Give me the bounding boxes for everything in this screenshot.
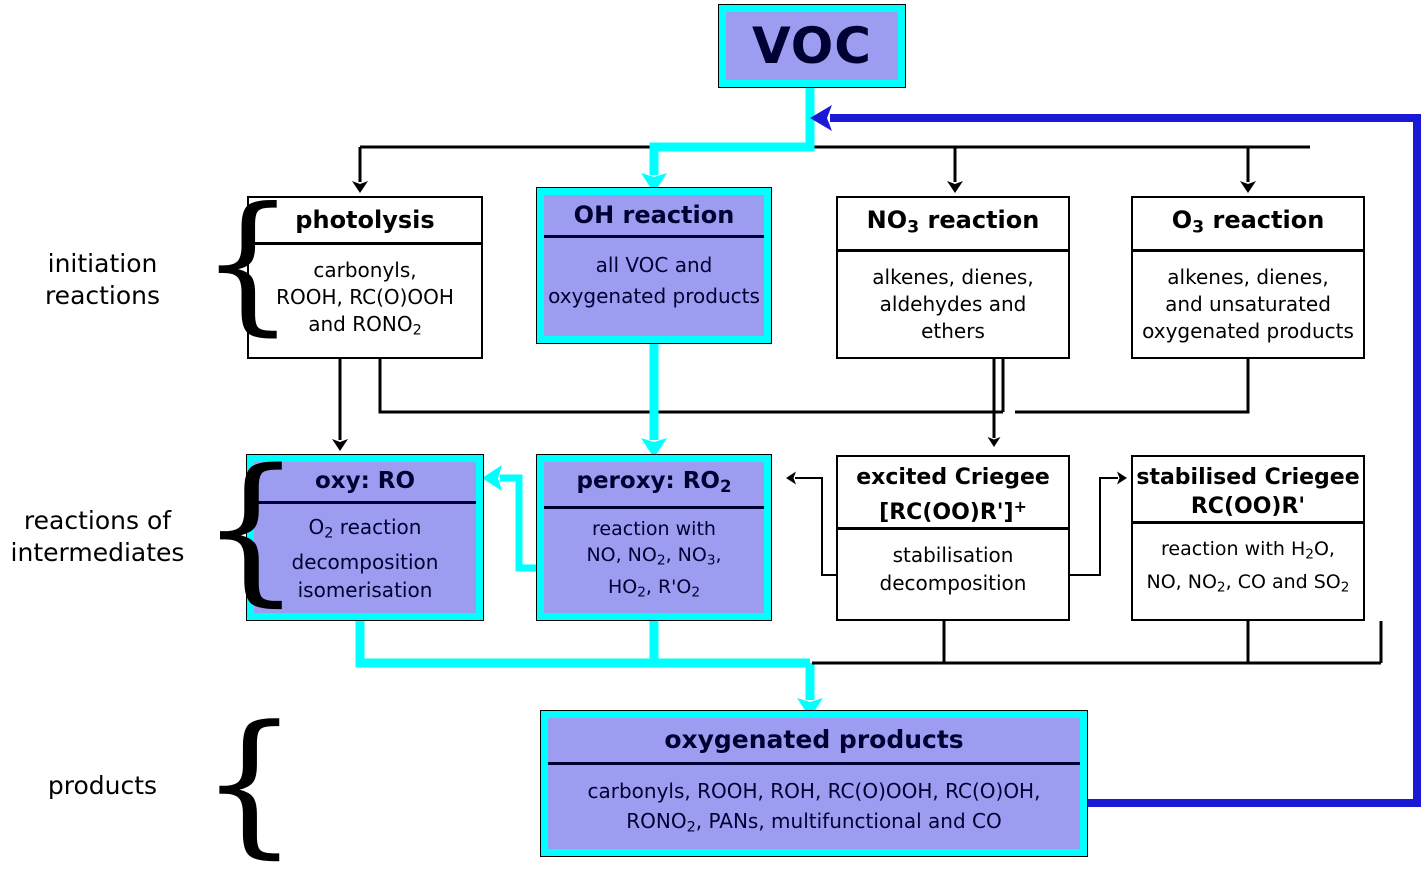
row-label-initiation: initiation reactions (10, 248, 195, 312)
oh-reaction-body-line-2: oxygenated products (544, 281, 764, 312)
stabilised-criegee-title-line-1: stabilised Criegee (1133, 463, 1363, 492)
o3-reaction-title: O3 reaction (1133, 198, 1363, 252)
diagram-canvas: VOC photolysis carbonyls, ROOH, RC(O)OOH… (0, 0, 1425, 888)
o3-reaction-body-line-3: oxygenated products (1133, 318, 1363, 345)
edge-voc-to-oh-reaction (654, 87, 810, 175)
stabilised-criegee-title: stabilised Criegee RC(OO)R' (1133, 457, 1363, 524)
node-oh-reaction[interactable]: OH reaction all VOC and oxygenated produ… (537, 188, 771, 343)
excited-criegee-title-line-2: [RC(OO)R']+ (838, 492, 1068, 527)
row-label-initiation-line-1: initiation (10, 248, 195, 280)
oxygenated-products-body-line-2: RONO2, PANs, multifunctional and CO (548, 806, 1080, 843)
node-o3-reaction[interactable]: O3 reaction alkenes, dienes, and unsatur… (1131, 196, 1365, 359)
no3-reaction-title: NO3 reaction (838, 198, 1068, 252)
oxygenated-products-body-line-1: carbonyls, ROOH, ROH, RC(O)OOH, RC(O)OH, (548, 776, 1080, 806)
peroxy-ro2-body: reaction with NO, NO2, NO3, HO2, R'O2 (544, 509, 764, 605)
o3-reaction-body: alkenes, dienes, and unsaturated oxygena… (1133, 252, 1363, 345)
excited-criegee-body-line-2: decomposition (838, 569, 1068, 597)
edge-o3-to-excited-criegee (1015, 359, 1248, 412)
oxygenated-products-body: carbonyls, ROOH, ROH, RC(O)OOH, RC(O)OH,… (548, 765, 1080, 843)
excited-criegee-title: excited Criegee [RC(OO)R']+ (838, 457, 1068, 530)
row-label-products-line-1: products (10, 770, 195, 802)
excited-criegee-title-line-1: excited Criegee (838, 463, 1068, 492)
stabilised-criegee-body-line-2: NO, NO2, CO and SO2 (1133, 568, 1363, 601)
edge-photolysis-bus-to-criegee (380, 359, 1003, 412)
stabilised-criegee-body: reaction with H2O, NO, NO2, CO and SO2 (1133, 524, 1363, 602)
node-no3-reaction[interactable]: NO3 reaction alkenes, dienes, aldehydes … (836, 196, 1070, 359)
peroxy-ro2-body-line-3: HO2, R'O2 (544, 574, 764, 605)
oh-reaction-body: all VOC and oxygenated products (544, 238, 764, 312)
peroxy-ro2-title: peroxy: RO2 (544, 462, 764, 509)
no3-reaction-body-line-1: alkenes, dienes, (838, 264, 1068, 291)
brace-products: { (200, 705, 299, 860)
edge-voc-to-initiation (360, 147, 1310, 182)
edge-peroxy-to-oxy (500, 478, 537, 568)
row-label-intermediates: reactions of intermediates (0, 505, 195, 569)
voc-title: VOC (726, 12, 898, 80)
stabilised-criegee-title-line-2: RC(OO)R' (1133, 492, 1363, 521)
oh-reaction-body-line-1: all VOC and (544, 250, 764, 281)
excited-criegee-body-line-1: stabilisation (838, 541, 1068, 569)
peroxy-ro2-body-line-2: NO, NO2, NO3, (544, 542, 764, 573)
edge-intermediates-to-products-cyan (360, 620, 810, 700)
node-oxygenated-products[interactable]: oxygenated products carbonyls, ROOH, ROH… (541, 711, 1087, 856)
edge-excited-criegee-to-peroxy (795, 478, 836, 575)
edge-criegee-to-products (812, 621, 1381, 663)
row-label-intermediates-line-2: intermediates (0, 537, 195, 569)
node-excited-criegee[interactable]: excited Criegee [RC(OO)R']+ stabilisatio… (836, 455, 1070, 621)
node-stabilised-criegee[interactable]: stabilised Criegee RC(OO)R' reaction wit… (1131, 455, 1365, 621)
oxygenated-products-title: oxygenated products (548, 718, 1080, 765)
no3-reaction-body-line-3: ethers (838, 318, 1068, 345)
row-label-products: products (10, 770, 195, 802)
o3-reaction-body-line-2: and unsaturated (1133, 291, 1363, 318)
edge-excited-to-stabilised-criegee (1070, 478, 1118, 575)
o3-reaction-body-line-1: alkenes, dienes, (1133, 264, 1363, 291)
oh-reaction-title: OH reaction (544, 195, 764, 238)
no3-reaction-body-line-2: aldehydes and (838, 291, 1068, 318)
node-voc[interactable]: VOC (719, 5, 905, 87)
node-peroxy-ro2[interactable]: peroxy: RO2 reaction with NO, NO2, NO3, … (537, 455, 771, 620)
row-label-initiation-line-2: reactions (10, 280, 195, 312)
row-label-intermediates-line-1: reactions of (0, 505, 195, 537)
peroxy-ro2-body-line-1: reaction with (544, 516, 764, 542)
no3-reaction-body: alkenes, dienes, aldehydes and ethers (838, 252, 1068, 345)
brace-intermediates: { (200, 448, 302, 608)
brace-initiation: { (200, 188, 295, 338)
excited-criegee-body: stabilisation decomposition (838, 530, 1068, 597)
stabilised-criegee-body-line-1: reaction with H2O, (1133, 535, 1363, 568)
